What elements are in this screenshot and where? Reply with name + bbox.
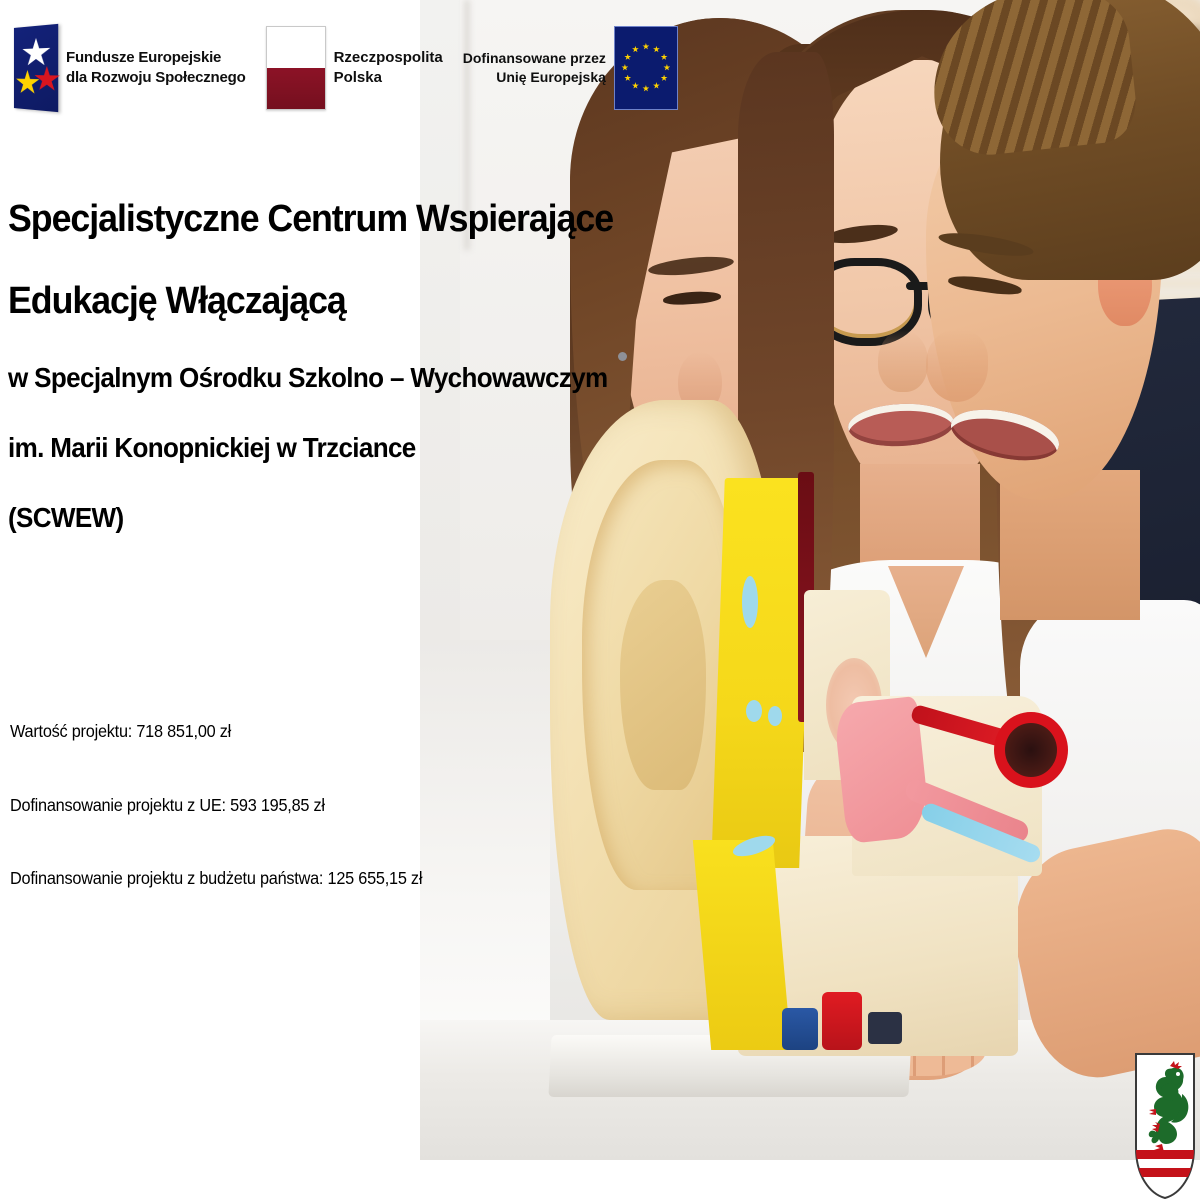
republic-label: Rzeczpospolita Polska — [334, 48, 443, 88]
title-line-2: Edukację Włączającą — [8, 282, 534, 320]
student-left-earring — [618, 352, 627, 361]
eu-star-icon-1 — [642, 43, 649, 50]
eu-funding-line: Dofinansowanie projektu z UE: 593 195,85… — [10, 797, 531, 815]
republic-label-line1: Rzeczpospolita — [334, 48, 443, 68]
ear-canal — [620, 580, 706, 790]
republic-label-line2: Polska — [334, 68, 443, 88]
poland-flag-icon — [266, 26, 326, 110]
page-title: Specjalistyczne Centrum Wspierające Eduk… — [8, 200, 568, 574]
ear-blue-marker-1 — [742, 576, 758, 628]
state-funding-line: Dofinansowanie projektu z budżetu państw… — [10, 870, 531, 888]
star-white-icon — [22, 36, 51, 67]
republic-of-poland-logo: Rzeczpospolita Polska — [266, 26, 443, 110]
ear-plug-blue — [782, 1008, 818, 1050]
eu-star-icon-9 — [624, 75, 631, 82]
ear-plug-dark — [868, 1012, 902, 1044]
ear-red-ring — [994, 712, 1068, 788]
eu-label: Dofinansowane przez Unię Europejską — [463, 49, 606, 86]
students-photo — [420, 0, 1200, 1160]
student-middle-nose — [878, 330, 928, 392]
subtitle-line-3: (SCWEW) — [8, 504, 529, 532]
eu-flag-icon — [614, 26, 678, 110]
star-red-icon — [34, 65, 60, 92]
eu-star-icon-8 — [632, 82, 639, 89]
eu-star-icon-11 — [624, 54, 631, 61]
poster-root: Fundusze Europejskie dla Rozwoju Społecz… — [0, 0, 1200, 1200]
eu-star-icon-12 — [632, 46, 639, 53]
ear-blue-marker-2 — [746, 700, 762, 722]
eu-star-icon-4 — [663, 64, 670, 71]
subtitle-line-2: im. Marii Konopnickiej w Trzciance — [8, 434, 529, 462]
eu-star-icon-10 — [621, 64, 628, 71]
european-union-logo: Dofinansowane przez Unię Europejską — [463, 26, 678, 110]
eu-funds-label: Fundusze Europejskie dla Rozwoju Społecz… — [66, 48, 246, 88]
subtitle-line-1: w Specjalnym Ośrodku Szkolno – Wychowawc… — [8, 364, 529, 392]
coat-of-arms-icon — [1134, 1052, 1196, 1200]
ear-plug-red — [822, 992, 862, 1050]
funding-logos-bar: Fundusze Europejskie dla Rozwoju Społecz… — [0, 0, 620, 135]
eu-star-icon-6 — [653, 82, 660, 89]
trzcianka-coat-of-arms — [1134, 1052, 1196, 1200]
eu-funds-label-line1: Fundusze Europejskie — [66, 48, 246, 68]
ear-blue-marker-3 — [768, 706, 782, 726]
eu-star-icon-2 — [653, 46, 660, 53]
eu-star-icon-7 — [642, 85, 649, 92]
eu-label-line1: Dofinansowane przez — [463, 49, 606, 67]
ear-anatomical-model — [550, 400, 970, 1050]
eu-star-icon-3 — [661, 54, 668, 61]
eu-funds-flag-icon — [14, 23, 58, 111]
eu-funds-logo: Fundusze Europejskie dla Rozwoju Społecz… — [12, 26, 246, 110]
eu-star-icon-5 — [661, 75, 668, 82]
eu-label-line2: Unię Europejską — [463, 68, 606, 86]
project-value-line: Wartość projektu: 718 851,00 zł — [10, 723, 531, 741]
eu-funds-label-line2: dla Rozwoju Społecznego — [66, 68, 246, 88]
finance-block: Wartość projektu: 718 851,00 zł Dofinans… — [10, 723, 570, 944]
star-yellow-icon — [16, 69, 40, 95]
title-line-1: Specjalistyczne Centrum Wspierające — [8, 200, 534, 238]
student-right-nose — [926, 330, 988, 402]
